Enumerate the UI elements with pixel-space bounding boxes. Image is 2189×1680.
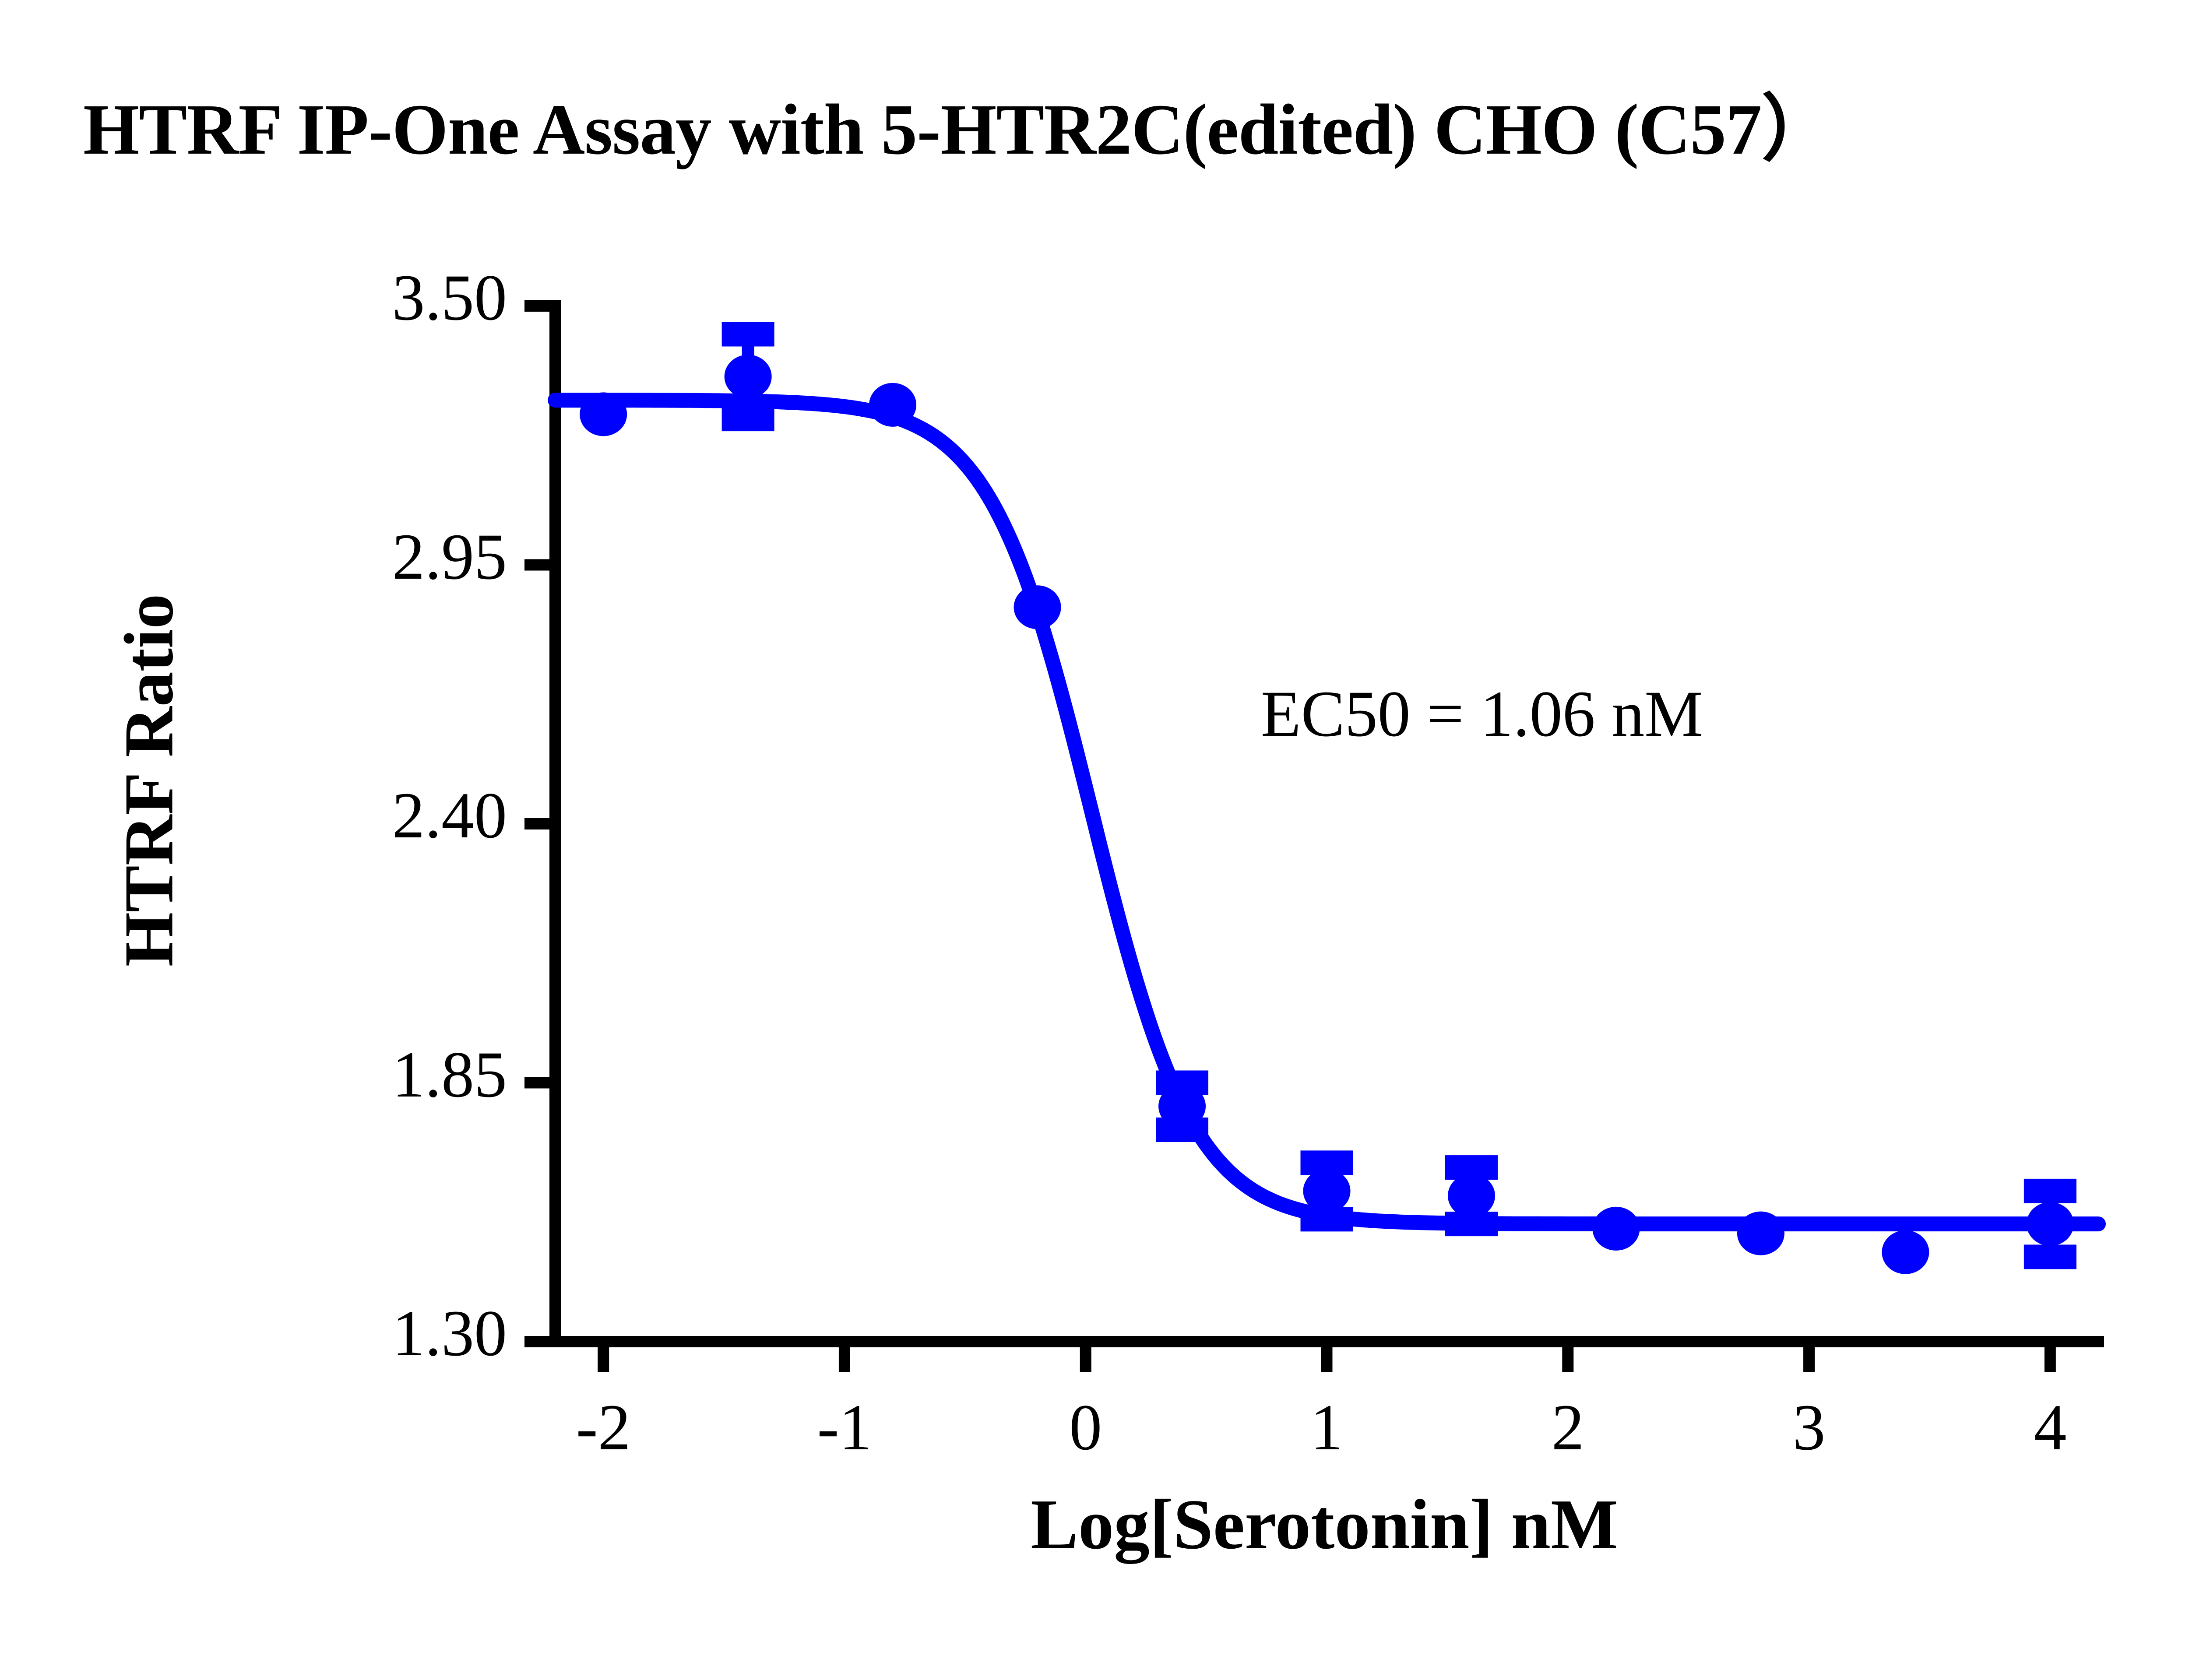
y-tick-label-4: 3.50 bbox=[262, 260, 507, 335]
y-tick-label-2: 2.40 bbox=[262, 778, 507, 853]
ec50-annotation: EC50 = 1.06 nM bbox=[1261, 676, 1703, 752]
data-point-8 bbox=[1737, 1212, 1784, 1255]
error-bars bbox=[722, 334, 2076, 1257]
x-axis-title: Log[Serotonin] nM bbox=[549, 1484, 2099, 1566]
data-point-10 bbox=[2027, 1202, 2074, 1246]
data-point-1 bbox=[725, 355, 772, 398]
data-point-9 bbox=[1882, 1230, 1929, 1274]
y-tick-label-3: 2.95 bbox=[262, 519, 507, 594]
data-point-2 bbox=[869, 383, 916, 427]
x-tick-label-6: 4 bbox=[1985, 1390, 2116, 1465]
fit-curve-path bbox=[555, 400, 2098, 1224]
x-tick-label-2: 0 bbox=[1020, 1390, 1151, 1465]
y-axis-title: HTRF Ratio bbox=[109, 540, 190, 1021]
x-tick-label-5: 3 bbox=[1743, 1390, 1875, 1465]
data-point-6 bbox=[1448, 1174, 1495, 1218]
x-tick-label-4: 2 bbox=[1502, 1390, 1633, 1465]
data-point-5 bbox=[1303, 1169, 1351, 1213]
data-points bbox=[580, 355, 2074, 1274]
chart-figure: HTRF IP-One Assay with 5-HTR2C(edited) C… bbox=[0, 0, 2189, 1680]
fit-curve bbox=[555, 400, 2098, 1224]
data-point-4 bbox=[1158, 1084, 1206, 1128]
data-point-0 bbox=[580, 392, 627, 436]
x-tick-label-1: -1 bbox=[779, 1390, 910, 1465]
y-tick-label-1: 1.85 bbox=[262, 1037, 507, 1112]
data-point-3 bbox=[1014, 585, 1061, 629]
data-point-7 bbox=[1592, 1207, 1640, 1251]
x-tick-label-3: 1 bbox=[1261, 1390, 1393, 1465]
x-tick-label-0: -2 bbox=[538, 1390, 669, 1465]
y-tick-label-0: 1.30 bbox=[262, 1296, 507, 1371]
